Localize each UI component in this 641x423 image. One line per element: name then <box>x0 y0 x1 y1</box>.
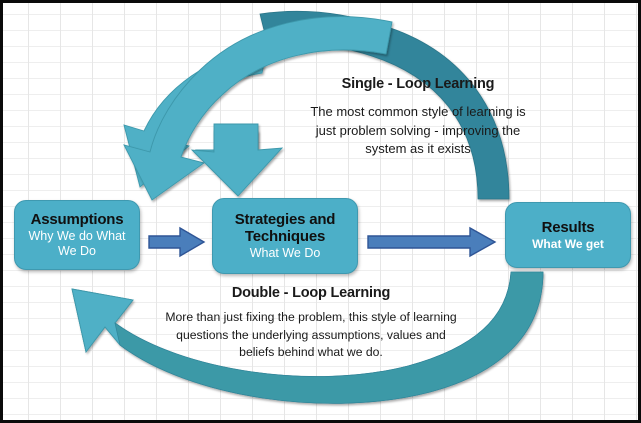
node-assumptions[interactable]: Assumptions Why We do What We Do <box>14 200 140 270</box>
single-loop-heading: Single - Loop Learning <box>300 76 536 93</box>
node-assumptions-subtitle: Why We do What We Do <box>21 229 133 259</box>
node-strategies[interactable]: Strategies and Techniques What We Do <box>212 198 358 274</box>
double-loop-body: More than just fixing the problem, this … <box>163 309 459 361</box>
process-arrow-assumptions-to-strategies <box>147 225 207 259</box>
node-results-title: Results <box>542 219 595 236</box>
single-loop-annotation: Single - Loop Learning The most common s… <box>300 76 536 159</box>
diagram-canvas: Assumptions Why We do What We Do Strateg… <box>0 0 641 423</box>
node-strategies-title: Strategies and Techniques <box>219 211 351 246</box>
single-loop-body: The most common style of learning is jus… <box>300 103 536 158</box>
process-arrow-strategies-to-results <box>366 225 498 259</box>
node-results[interactable]: Results What We get <box>505 202 631 268</box>
node-results-subtitle: What We get <box>532 237 604 251</box>
node-strategies-subtitle: What We Do <box>250 246 321 261</box>
double-loop-annotation: Double - Loop Learning More than just fi… <box>163 285 459 361</box>
double-loop-heading: Double - Loop Learning <box>163 285 459 302</box>
node-assumptions-title: Assumptions <box>31 211 124 228</box>
